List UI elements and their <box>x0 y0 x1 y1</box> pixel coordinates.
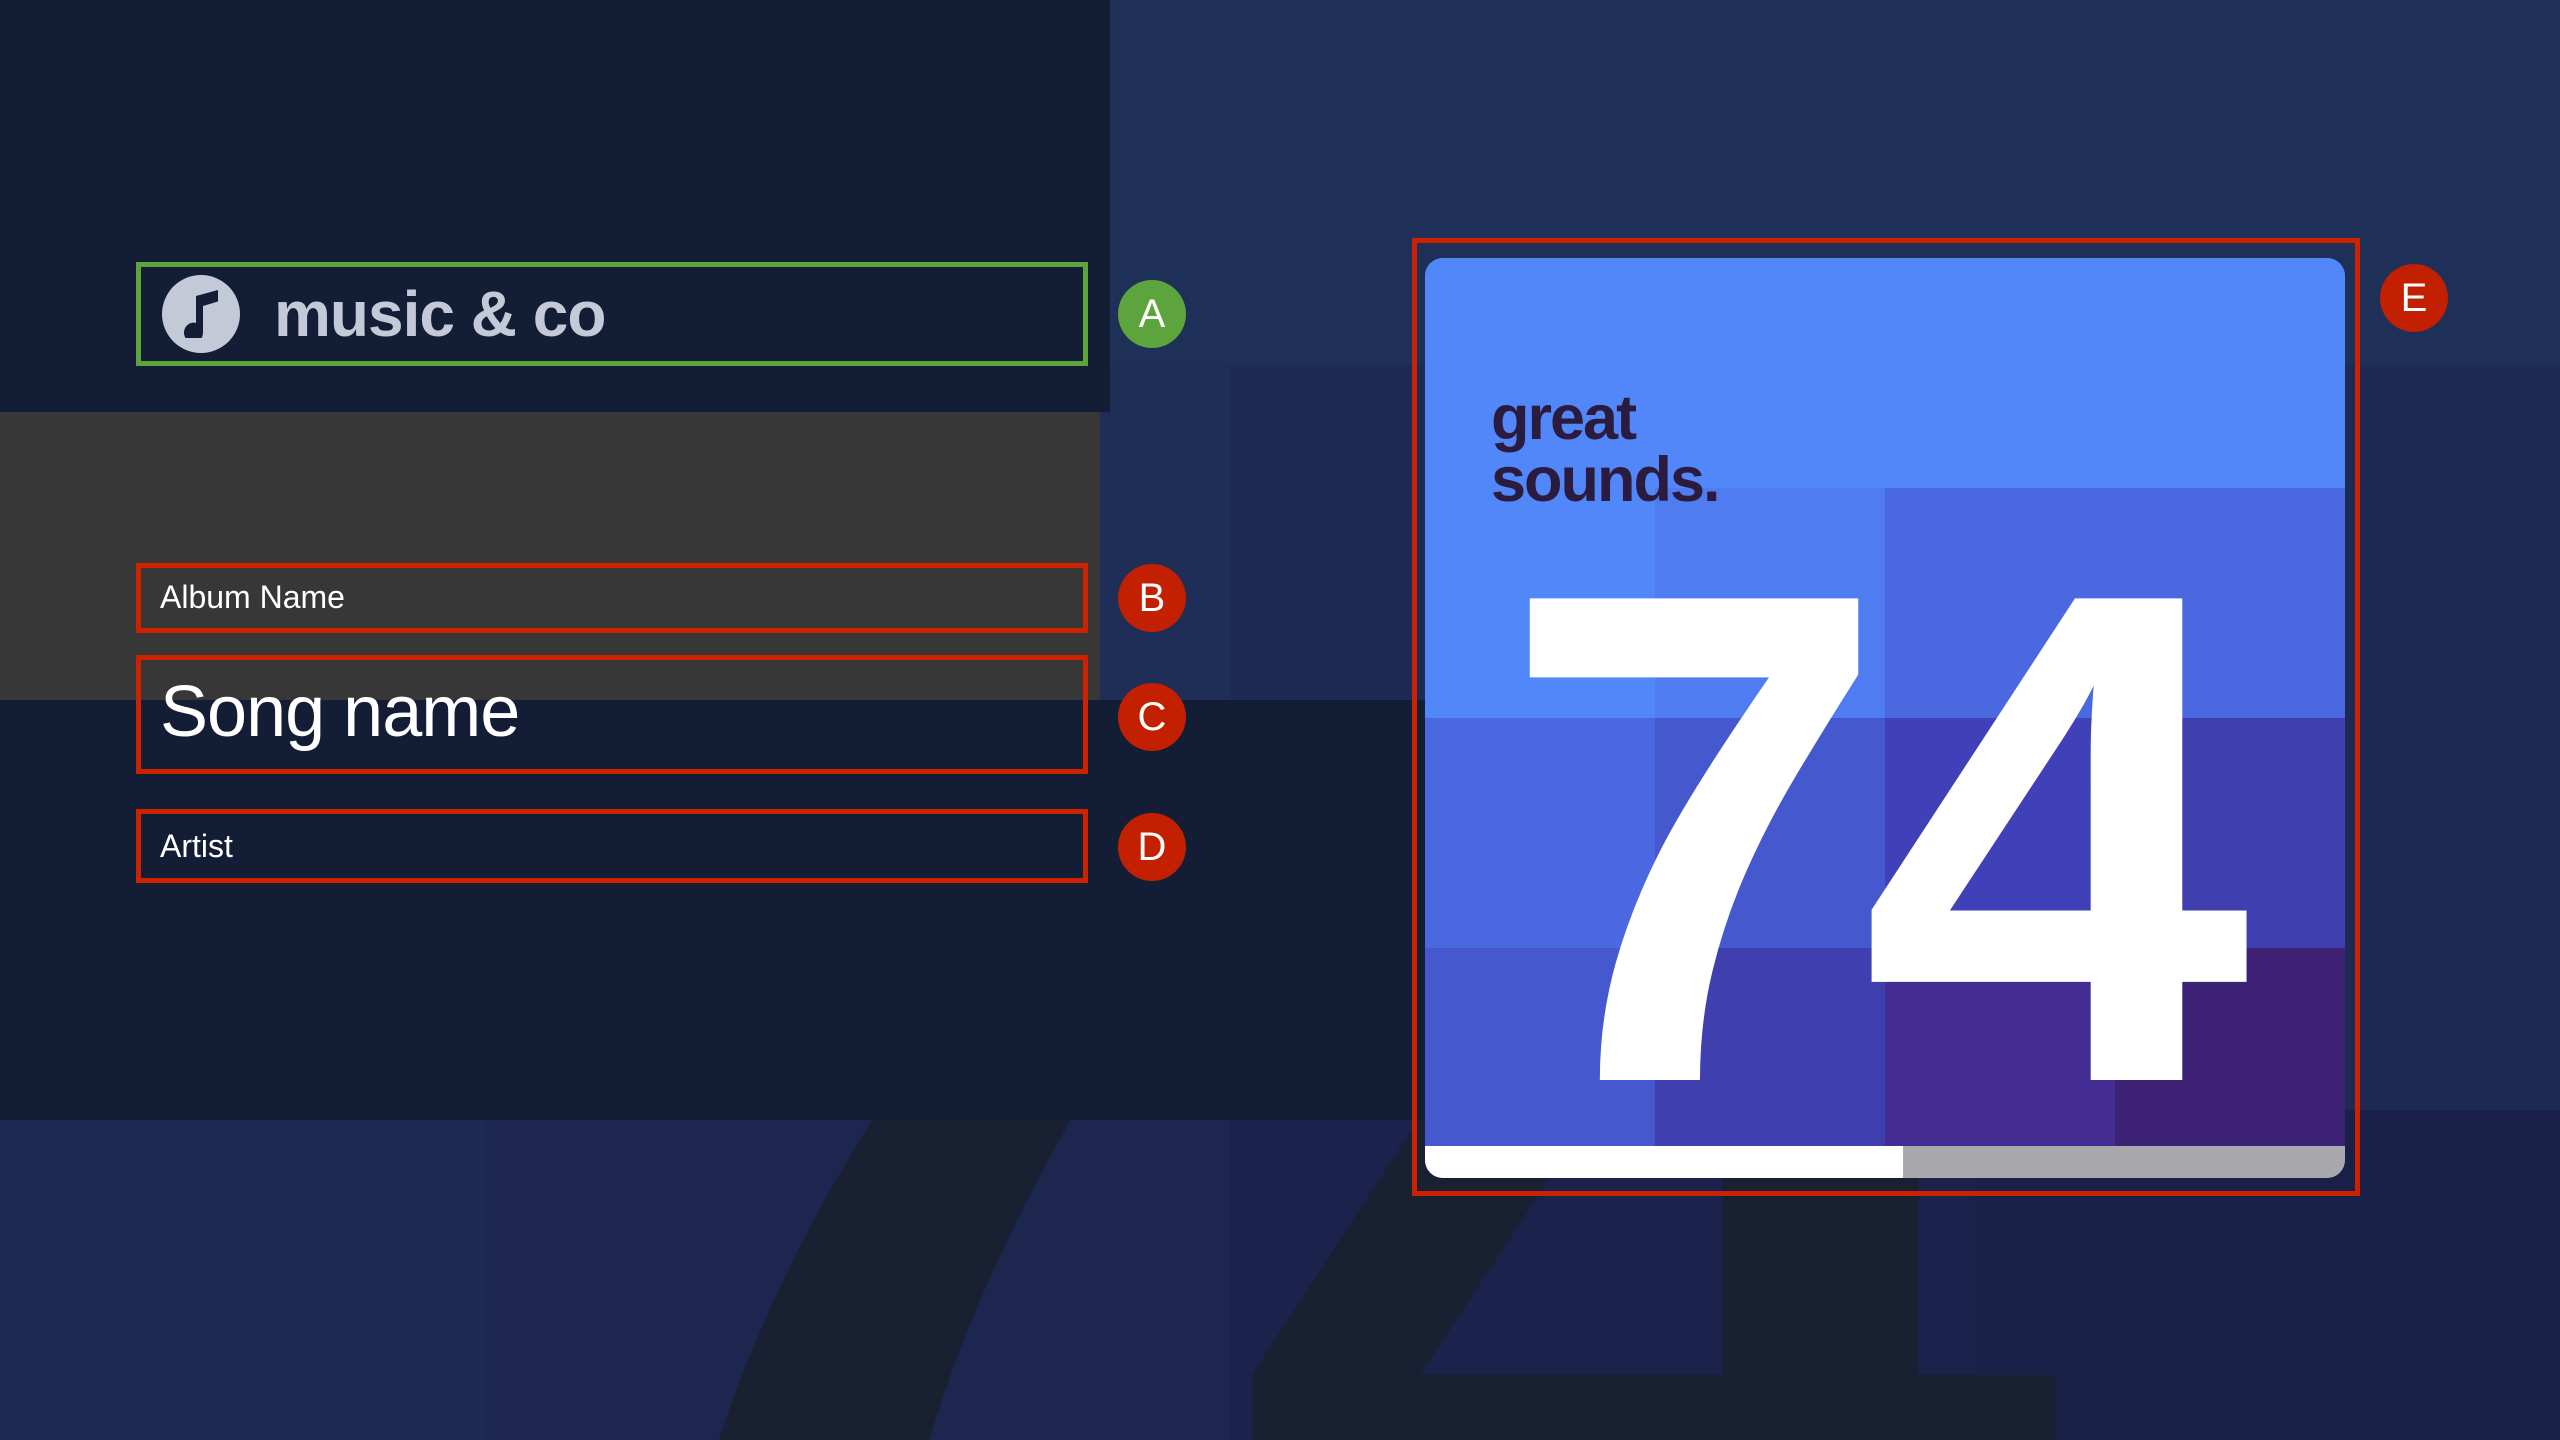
playback-progress-bar[interactable] <box>1425 1146 2345 1178</box>
annotation-badge-c: C <box>1118 683 1186 751</box>
annotation-badge-e: E <box>2380 264 2448 332</box>
brand-name: music & co <box>274 277 605 351</box>
brand-logo-row[interactable]: music & co <box>138 265 1083 363</box>
album-number: 74 <box>1425 544 2321 1132</box>
annotation-badge-d: D <box>1118 813 1186 881</box>
playback-progress-fill <box>1425 1146 1903 1178</box>
album-name-value: Album Name <box>160 579 345 616</box>
song-name-value: Song name <box>160 671 519 753</box>
song-name-field[interactable]: Song name <box>138 659 1083 764</box>
artist-value: Artist <box>160 828 233 865</box>
album-art-card[interactable]: great sounds. 74 <box>1425 258 2345 1178</box>
album-name-field[interactable]: Album Name <box>138 566 1083 629</box>
annotation-badge-b: B <box>1118 564 1186 632</box>
artist-field[interactable]: Artist <box>138 813 1083 880</box>
music-note-circle-icon <box>162 275 240 353</box>
annotation-badge-a: A <box>1118 280 1186 348</box>
